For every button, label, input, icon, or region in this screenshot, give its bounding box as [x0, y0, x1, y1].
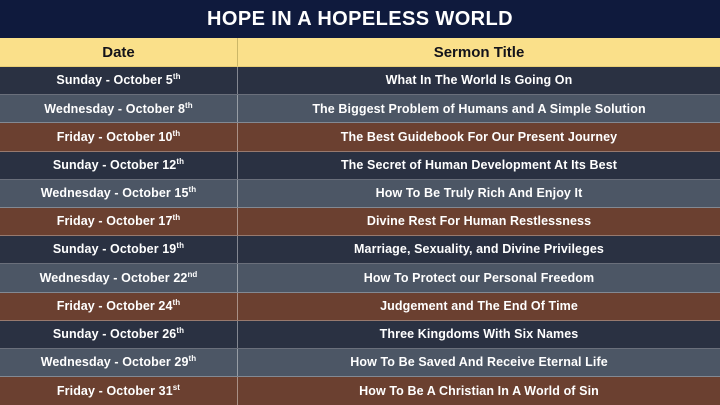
date-ordinal-suffix: th: [173, 213, 181, 222]
table-row: Wednesday - October 22ndHow To Protect o…: [0, 264, 720, 292]
cell-date: Sunday - October 19th: [0, 236, 238, 263]
cell-date: Wednesday - October 29th: [0, 349, 238, 376]
cell-date: Friday - October 24th: [0, 293, 238, 320]
cell-date: Wednesday - October 8th: [0, 95, 238, 122]
cell-date: Friday - October 10th: [0, 123, 238, 150]
cell-sermon-title: The Biggest Problem of Humans and A Simp…: [238, 95, 720, 122]
cell-sermon-title: The Secret of Human Development At Its B…: [238, 152, 720, 179]
date-ordinal-suffix: th: [176, 241, 184, 250]
date-text: Friday - October 24th: [57, 300, 181, 313]
cell-date: Sunday - October 5th: [0, 67, 238, 94]
cell-sermon-title: How To Be Saved And Receive Eternal Life: [238, 349, 720, 376]
date-ordinal-suffix: th: [173, 72, 181, 81]
cell-sermon-title: Judgement and The End Of Time: [238, 293, 720, 320]
date-ordinal-suffix: th: [189, 185, 197, 194]
column-header-sermon-title: Sermon Title: [238, 38, 720, 66]
cell-sermon-title: Marriage, Sexuality, and Divine Privileg…: [238, 236, 720, 263]
cell-sermon-title: How To Be Truly Rich And Enjoy It: [238, 180, 720, 207]
date-text: Wednesday - October 8th: [44, 103, 193, 116]
date-ordinal-suffix: th: [185, 100, 193, 109]
table-row: Wednesday - October 15thHow To Be Truly …: [0, 180, 720, 208]
table-row: Friday - October 17thDivine Rest For Hum…: [0, 208, 720, 236]
date-text: Wednesday - October 15th: [41, 187, 197, 200]
table-row: Sunday - October 19thMarriage, Sexuality…: [0, 236, 720, 264]
cell-date: Wednesday - October 15th: [0, 180, 238, 207]
date-ordinal-suffix: st: [173, 383, 180, 392]
date-ordinal-suffix: th: [173, 298, 181, 307]
cell-date: Sunday - October 26th: [0, 321, 238, 348]
table-row: Sunday - October 12thThe Secret of Human…: [0, 152, 720, 180]
table-row: Friday - October 31stHow To Be A Christi…: [0, 377, 720, 405]
page-title: HOPE IN A HOPELESS WORLD: [207, 9, 513, 29]
table-row: Sunday - October 26thThree Kingdoms With…: [0, 321, 720, 349]
table-row: Sunday - October 5thWhat In The World Is…: [0, 67, 720, 95]
schedule-table-body: Sunday - October 5thWhat In The World Is…: [0, 67, 720, 405]
date-text: Wednesday - October 22nd: [40, 272, 198, 285]
date-ordinal-suffix: nd: [187, 270, 197, 279]
column-header-date: Date: [0, 38, 238, 66]
date-text: Friday - October 10th: [57, 131, 181, 144]
date-text: Friday - October 17th: [57, 215, 181, 228]
date-text: Sunday - October 12th: [53, 159, 184, 172]
table-row: Friday - October 24thJudgement and The E…: [0, 293, 720, 321]
date-text: Sunday - October 19th: [53, 243, 184, 256]
cell-date: Friday - October 17th: [0, 208, 238, 235]
date-ordinal-suffix: th: [189, 354, 197, 363]
table-row: Wednesday - October 29thHow To Be Saved …: [0, 349, 720, 377]
cell-sermon-title: Divine Rest For Human Restlessness: [238, 208, 720, 235]
date-ordinal-suffix: th: [173, 129, 181, 138]
cell-sermon-title: The Best Guidebook For Our Present Journ…: [238, 123, 720, 150]
cell-sermon-title: What In The World Is Going On: [238, 67, 720, 94]
date-text: Sunday - October 5th: [56, 74, 180, 87]
sermon-schedule-poster: HOPE IN A HOPELESS WORLD Date Sermon Tit…: [0, 0, 720, 405]
table-header-row: Date Sermon Title: [0, 38, 720, 67]
date-text: Wednesday - October 29th: [41, 356, 197, 369]
date-text: Friday - October 31st: [57, 385, 180, 398]
cell-date: Friday - October 31st: [0, 377, 238, 405]
cell-date: Wednesday - October 22nd: [0, 264, 238, 291]
cell-date: Sunday - October 12th: [0, 152, 238, 179]
cell-sermon-title: How To Be A Christian In A World of Sin: [238, 377, 720, 405]
date-ordinal-suffix: th: [176, 157, 184, 166]
date-text: Sunday - October 26th: [53, 328, 184, 341]
cell-sermon-title: Three Kingdoms With Six Names: [238, 321, 720, 348]
table-row: Wednesday - October 8thThe Biggest Probl…: [0, 95, 720, 123]
poster-title-banner: HOPE IN A HOPELESS WORLD: [0, 0, 720, 38]
cell-sermon-title: How To Protect our Personal Freedom: [238, 264, 720, 291]
date-ordinal-suffix: th: [176, 326, 184, 335]
table-row: Friday - October 10thThe Best Guidebook …: [0, 123, 720, 151]
